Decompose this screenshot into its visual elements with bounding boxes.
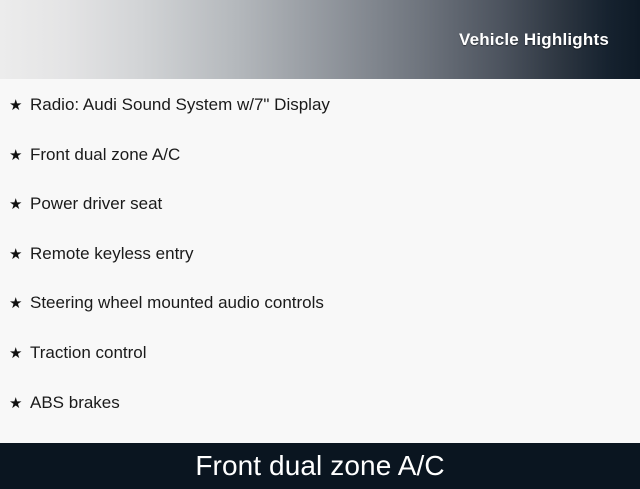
list-item: ★ Radio: Audi Sound System w/7" Display	[0, 96, 640, 146]
star-icon: ★	[9, 296, 30, 311]
footer-caption-bar: Front dual zone A/C	[0, 443, 640, 489]
header-banner: Vehicle Highlights	[0, 0, 640, 79]
star-icon: ★	[9, 247, 30, 262]
list-item-label: ABS brakes	[30, 394, 640, 411]
vehicle-highlights-slide: Vehicle Highlights ★ Radio: Audi Sound S…	[0, 0, 640, 480]
list-item: ★ Front dual zone A/C	[0, 146, 640, 196]
list-item: ★ Steering wheel mounted audio controls	[0, 294, 640, 344]
list-item-label: Remote keyless entry	[30, 245, 640, 262]
footer-caption-text: Front dual zone A/C	[195, 452, 444, 480]
list-item-label: Front dual zone A/C	[30, 146, 640, 163]
vehicle-highlights-list: ★ Radio: Audi Sound System w/7" Display …	[0, 79, 640, 443]
list-item-label: Traction control	[30, 344, 640, 361]
star-icon: ★	[9, 197, 30, 212]
star-icon: ★	[9, 396, 30, 411]
star-icon: ★	[9, 98, 30, 113]
list-item-label: Power driver seat	[30, 195, 640, 212]
list-item-label: Steering wheel mounted audio controls	[30, 294, 640, 311]
list-item: ★ Power driver seat	[0, 195, 640, 245]
star-icon: ★	[9, 148, 30, 163]
list-item: ★ Traction control	[0, 344, 640, 394]
list-item: ★ ABS brakes	[0, 394, 640, 444]
list-item: ★ Remote keyless entry	[0, 245, 640, 295]
page-title: Vehicle Highlights	[459, 31, 609, 48]
star-icon: ★	[9, 346, 30, 361]
list-item-label: Radio: Audi Sound System w/7" Display	[30, 96, 640, 113]
